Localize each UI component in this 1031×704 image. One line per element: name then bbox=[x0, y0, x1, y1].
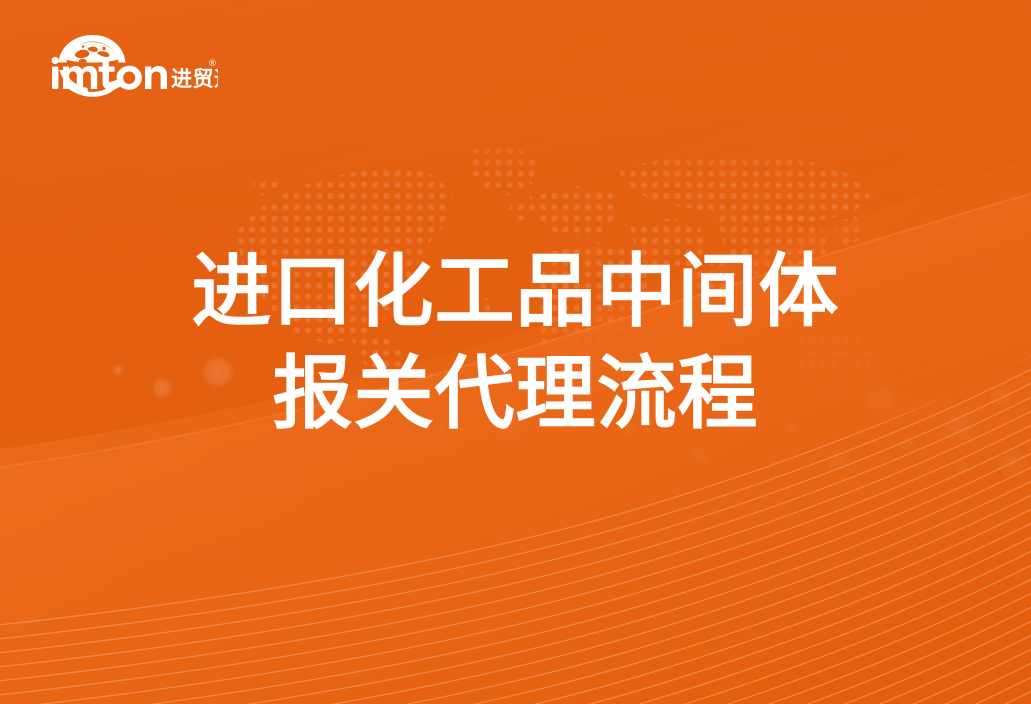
imton-wordmark bbox=[52, 57, 167, 90]
page-title: 进口化工品中间体 报关代理流程 bbox=[0, 252, 1031, 434]
imton-logo[interactable]: 进贸通 ® bbox=[42, 26, 218, 102]
logo-chinese-name: 进贸通 bbox=[171, 67, 218, 91]
title-line-2: 报关代理流程 bbox=[0, 354, 1031, 434]
title-slide: 进贸通 ® 进口化工品中间体 报关代理流程 bbox=[0, 0, 1031, 704]
title-line-1: 进口化工品中间体 bbox=[0, 252, 1031, 332]
registered-trademark-icon: ® bbox=[208, 59, 217, 69]
globe-logo-icon: 进贸通 ® bbox=[42, 26, 218, 102]
